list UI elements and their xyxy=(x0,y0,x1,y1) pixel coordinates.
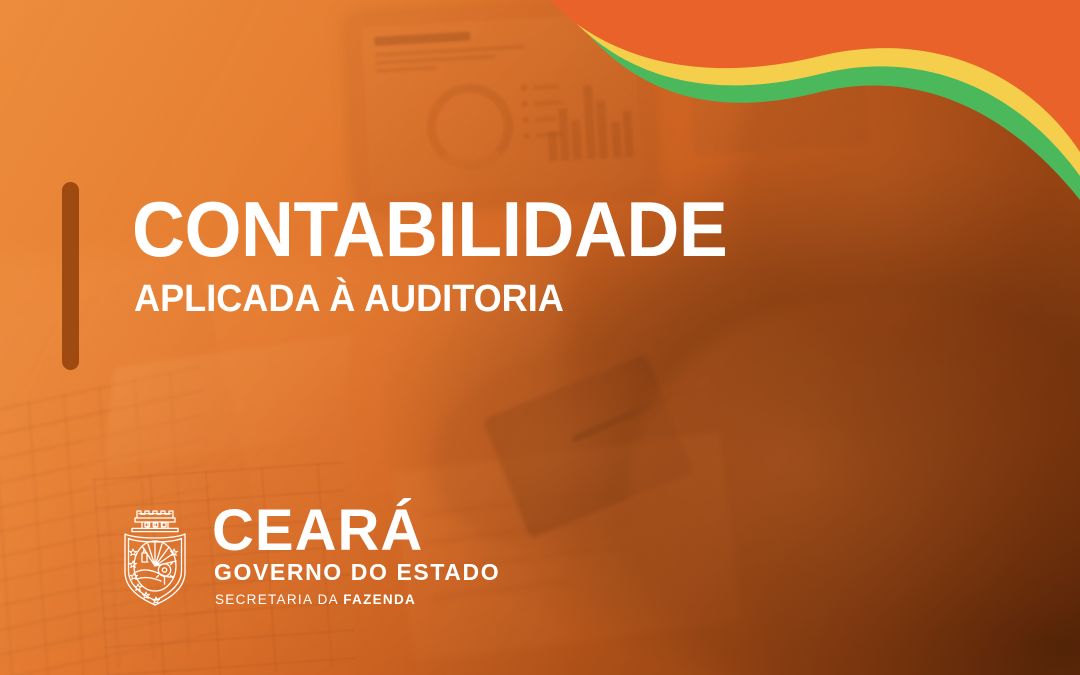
page-title: CONTABILIDADE xyxy=(132,193,727,266)
page-subtitle: APLICADA À AUDITORIA xyxy=(134,280,734,318)
logo-government-line: GOVERNO DO ESTADO xyxy=(214,561,500,584)
logo-secretariat-line: SECRETARIA DA FAZENDA xyxy=(215,593,500,607)
tricolor-wave xyxy=(520,0,1080,200)
accent-bar xyxy=(62,182,79,370)
coat-of-arms-icon xyxy=(112,500,198,610)
logo-secretariat-bold: FAZENDA xyxy=(343,592,416,607)
title-block: CONTABILIDADE APLICADA À AUDITORIA xyxy=(62,182,765,370)
logo-secretariat-light: SECRETARIA DA xyxy=(215,592,343,607)
logo-state-name: CEARÁ xyxy=(212,505,500,556)
title-text-group: CONTABILIDADE APLICADA À AUDITORIA xyxy=(132,193,765,318)
ceara-government-logo: CEARÁ GOVERNO DO ESTADO SECRETARIA DA FA… xyxy=(112,500,500,610)
logo-text-group: CEARÁ GOVERNO DO ESTADO SECRETARIA DA FA… xyxy=(212,505,500,607)
promo-banner: CONTABILIDADE APLICADA À AUDITORIA xyxy=(0,0,1080,675)
